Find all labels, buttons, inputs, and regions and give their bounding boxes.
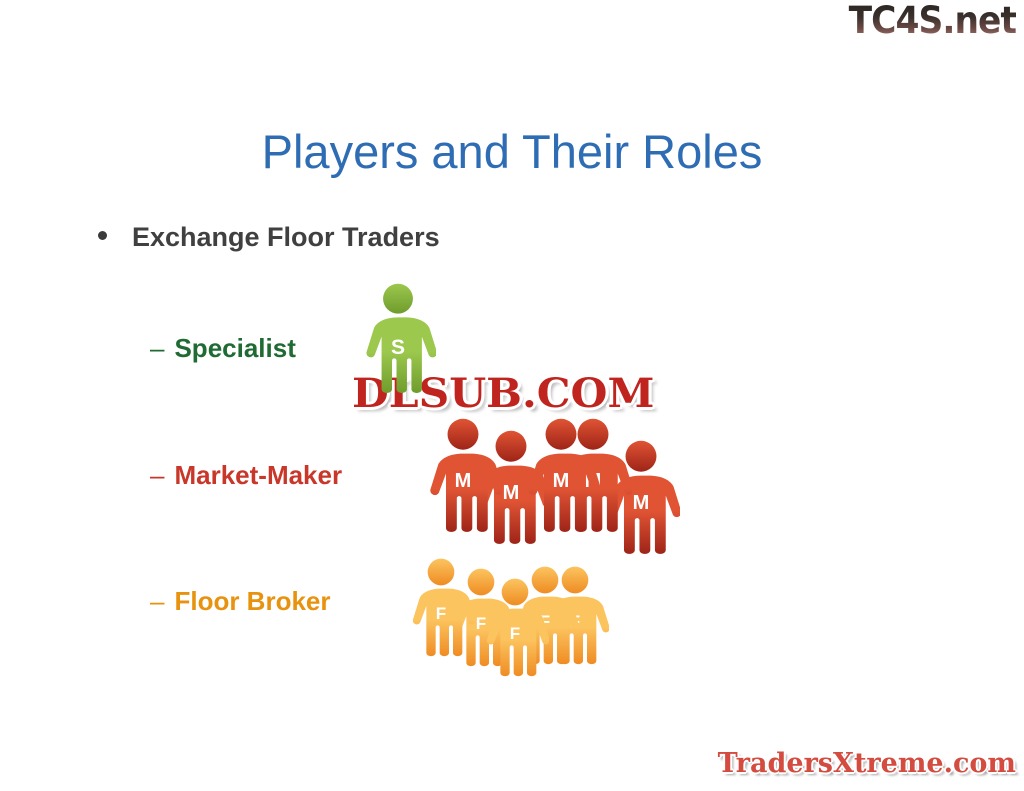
slide-canvas: TC4S.net Players and Their Roles Exchang… (0, 0, 1024, 791)
sub-bullet-label: Market-Maker (174, 460, 342, 491)
sub-bullet-market-maker: – Market-Maker (150, 460, 342, 491)
market-maker-figure-group: M M (424, 418, 679, 548)
market-maker-person-icon: M (522, 418, 600, 534)
market-maker-person-icon: M (424, 418, 502, 534)
sub-bullet-label: Floor Broker (174, 586, 330, 617)
tradersxtreme-watermark: TradersXtreme.com (718, 748, 1016, 779)
sub-bullet-specialist: – Specialist (150, 333, 296, 364)
sub-bullet-label: Specialist (174, 333, 295, 364)
bullet-dot-icon (98, 231, 107, 240)
floor-broker-person-glyph: F (481, 624, 549, 644)
floor-broker-figure-group: F F (407, 558, 602, 663)
dash-icon: – (150, 460, 164, 491)
bullet-item-exchange-floor-traders: Exchange Floor Traders (98, 222, 440, 253)
tc4s-logo: TC4S.net (849, 2, 1016, 39)
floor-broker-person-icon: F (407, 558, 475, 658)
page-title: Players and Their Roles (0, 124, 1024, 179)
floor-broker-person-glyph: F (407, 604, 475, 624)
dash-icon: – (150, 333, 164, 364)
dash-icon: – (150, 586, 164, 617)
floor-broker-person-icon: F (481, 578, 549, 678)
specialist-person-glyph: S (360, 336, 436, 360)
market-maker-person-glyph: M (424, 470, 502, 493)
specialist-figure-group: S (360, 283, 440, 393)
specialist-person-icon: S (360, 283, 436, 395)
market-maker-person-glyph: M (522, 470, 600, 493)
sub-bullet-floor-broker: – Floor Broker (150, 586, 331, 617)
bullet-label: Exchange Floor Traders (132, 222, 440, 253)
